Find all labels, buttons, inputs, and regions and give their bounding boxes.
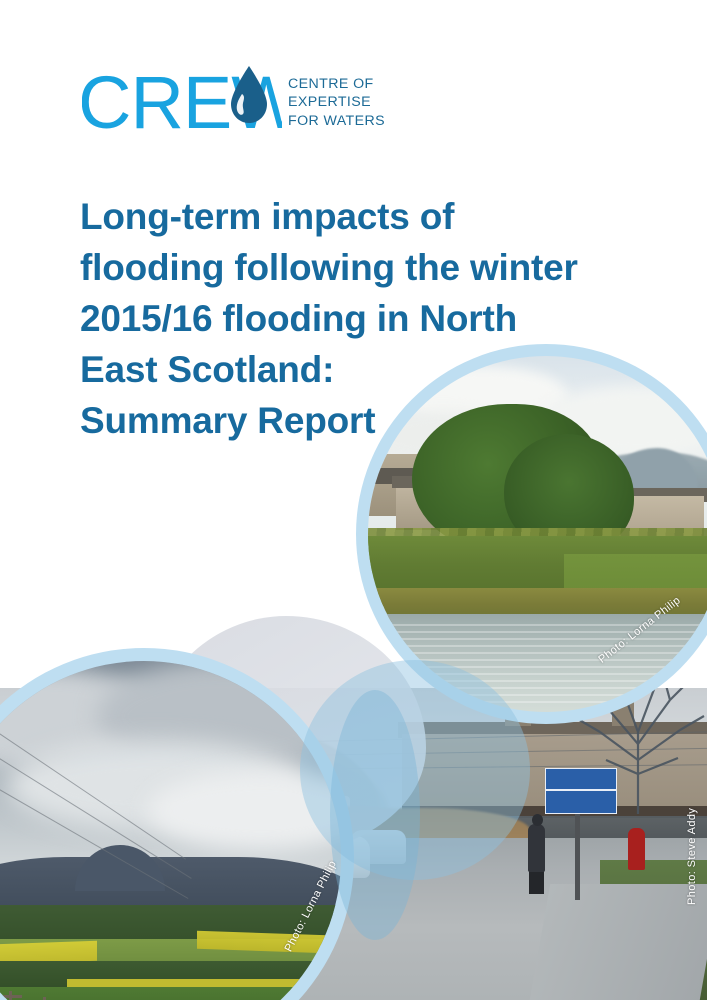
water-droplet-icon (225, 64, 273, 126)
title-line-3: 2015/16 flooding in North (80, 293, 640, 344)
decorative-blue-arc-2 (330, 690, 420, 940)
photo-credit-flooded-street: Photo: Steve Addy (686, 808, 698, 905)
report-title: Long-term impacts of flooding following … (80, 191, 640, 446)
title-line-4: East Scotland: (80, 344, 640, 395)
tagline-line-2: EXPERTISE (288, 93, 385, 111)
tagline-line-3: FOR WATERS (288, 112, 385, 130)
crew-logo-tagline: CENTRE OF EXPERTISE FOR WATERS (288, 75, 385, 130)
title-line-1: Long-term impacts of (80, 191, 640, 242)
photo-bennachie-landscape-circle (0, 648, 354, 1000)
report-cover-page: CREW CENTRE OF EXPERTISE FOR WATERS Long… (0, 0, 707, 1000)
title-line-5: Summary Report (80, 395, 640, 446)
tagline-line-1: CENTRE OF (288, 75, 385, 93)
crew-logo: CREW CENTRE OF EXPERTISE FOR WATERS (82, 62, 412, 154)
title-line-2: flooding following the winter (80, 242, 640, 293)
